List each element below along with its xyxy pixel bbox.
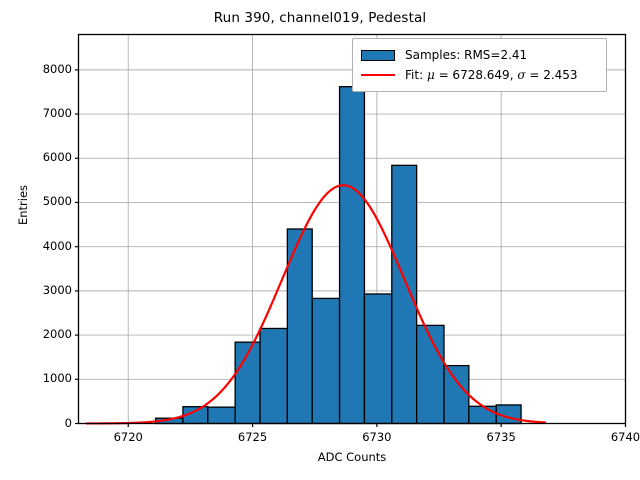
legend-line-icon	[361, 74, 395, 76]
legend-box: Samples: RMS=2.41 Fit: μ = 6728.649, σ =…	[352, 38, 607, 92]
x-tick-label: 6740	[586, 430, 640, 444]
legend-fit-sigma-value: = 2.453	[526, 68, 578, 82]
x-axis-label: ADC Counts	[78, 450, 626, 464]
legend-fit-mu-symbol: μ	[427, 68, 435, 82]
x-tick-label: 6720	[88, 430, 168, 444]
legend-item-samples: Samples: RMS=2.41	[361, 45, 598, 65]
legend-fit-mu-value: = 6728.649,	[435, 68, 518, 82]
legend-fit-prefix: Fit:	[405, 68, 427, 82]
legend-fit-sigma-symbol: σ	[517, 68, 525, 82]
legend-item-fit: Fit: μ = 6728.649, σ = 2.453	[361, 65, 598, 85]
legend-patch-icon	[361, 50, 395, 61]
figure-canvas: Run 390, channel019, Pedestal 0100020003…	[0, 0, 640, 480]
x-tick-label: 6725	[213, 430, 293, 444]
x-tick-label: 6730	[337, 430, 417, 444]
y-axis-label: Entries	[16, 160, 30, 250]
legend-label-fit: Fit: μ = 6728.649, σ = 2.453	[405, 68, 578, 82]
x-tick-label: 6735	[461, 430, 541, 444]
legend-label-samples: Samples: RMS=2.41	[405, 48, 527, 62]
